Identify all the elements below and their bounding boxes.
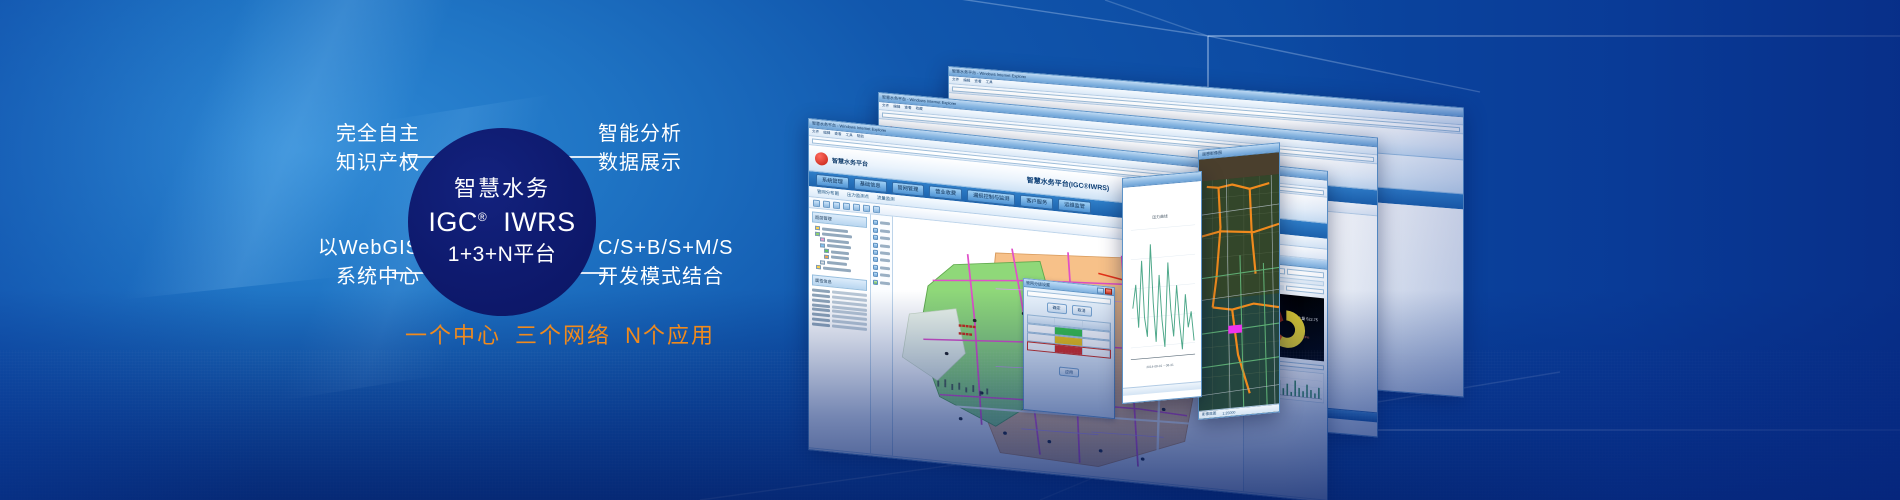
feature-top-left: 完全自主 知识产权	[300, 120, 420, 178]
hub-circle: 智慧水务 IGC® IWRS 1+3+N平台	[408, 128, 596, 316]
dialog-apply-button[interactable]: 应用	[1059, 366, 1079, 377]
feature-bottom-left: 以WebGIS 系统中心	[280, 234, 420, 292]
tree-node-label	[831, 256, 849, 261]
registered-mark-icon: ®	[478, 210, 487, 224]
zoom-out-icon[interactable]	[843, 202, 850, 210]
feature-line2: 系统中心	[280, 263, 420, 292]
tool-zoom-in[interactable]	[873, 235, 890, 242]
layer-swatch	[820, 260, 825, 265]
feature-line1: 智能分析	[598, 123, 682, 145]
stat-field-value[interactable]	[1286, 286, 1325, 295]
pressure-line-chart: 压力曲线 2014-08-01 ~ 08-31	[1127, 185, 1197, 383]
tool-label	[880, 251, 890, 255]
tool-pan[interactable]	[873, 227, 890, 234]
dialog-body: 确定 取消	[1024, 287, 1114, 386]
identify-icon[interactable]	[853, 203, 860, 211]
sub-tab-pipe-map[interactable]: 管网分布图	[817, 189, 839, 197]
feature-line1: 以WebGIS	[318, 237, 420, 259]
banner-root: 智慧水务平台 - Windows Internet Explorer 文件 编辑…	[0, 0, 1900, 500]
feature-line2: 知识产权	[300, 149, 420, 178]
menu-edit[interactable]: 编辑	[963, 78, 970, 84]
status-left: 影像底图	[1202, 411, 1216, 417]
status-coords: 坐标: 118.79, 32.06	[825, 451, 856, 459]
window-satellite-map[interactable]: 遥感影像图	[1198, 142, 1280, 420]
menu-view[interactable]: 查看	[834, 132, 841, 138]
screenshot-stack: 智慧水务平台 - Windows Internet Explorer 文件 编辑…	[770, 0, 1900, 500]
ruler-icon	[873, 250, 878, 256]
pan-icon[interactable]	[823, 200, 830, 208]
tool-label	[880, 281, 890, 285]
magnifier-minus-icon	[873, 242, 878, 248]
tool-label	[880, 266, 890, 270]
tree-node-label	[831, 250, 849, 255]
dialog-cancel-button[interactable]: 取消	[1072, 305, 1092, 317]
chart-panel-body: 压力曲线 2014-08-01 ~ 08-31	[1123, 181, 1201, 388]
hub-brand: IGC® IWRS	[428, 208, 575, 236]
tagline-part-1: 一个中心	[405, 323, 501, 348]
tool-query[interactable]	[873, 264, 890, 271]
selected-parcel-highlight	[1228, 325, 1242, 334]
tool-label	[880, 244, 890, 248]
menu-tools[interactable]: 工具	[846, 133, 853, 139]
search-icon	[873, 264, 878, 270]
tool-label-tool[interactable]	[873, 257, 890, 264]
tool-label	[880, 259, 890, 263]
app-logo-label: 智慧水务平台	[832, 155, 868, 168]
menu-file[interactable]: 文件	[882, 103, 889, 109]
status-scale: 比例尺 1:5000	[862, 454, 885, 461]
tool-measure[interactable]	[873, 250, 890, 257]
arrow-icon	[873, 220, 878, 226]
layer-swatch	[820, 237, 825, 242]
window-chart-panel[interactable]: 压力曲线 2014-08-01 ~ 08-31	[1122, 171, 1202, 404]
menu-edit[interactable]: 编辑	[823, 131, 830, 137]
satellite-imagery	[1199, 152, 1279, 419]
measure-icon[interactable]	[863, 204, 870, 212]
window-title-text: 遥感影像图	[1202, 150, 1222, 158]
map-tool-column[interactable]	[871, 214, 893, 455]
zoom-in-icon[interactable]	[833, 201, 840, 209]
dialog-window-controls[interactable]	[1097, 287, 1112, 295]
menu-file[interactable]: 文件	[952, 77, 959, 83]
tree-node-label	[827, 261, 847, 266]
filter-select-2[interactable]	[1287, 269, 1325, 279]
tool-label	[880, 236, 890, 240]
feature-line1: 完全自主	[336, 123, 420, 145]
sub-tab-pressure[interactable]: 压力监测点	[847, 192, 869, 200]
feature-top-right: 智能分析 数据展示	[598, 120, 682, 178]
donut-pct-label: 24%	[1303, 335, 1310, 340]
hero-content: 智慧水务 IGC® IWRS 1+3+N平台 完全自主 知识产权 以WebGIS…	[0, 0, 820, 500]
hub-subtitle: 1+3+N平台	[448, 242, 557, 267]
menu-favorites[interactable]: 收藏	[916, 106, 923, 112]
dialog-ok-button[interactable]: 确定	[1047, 302, 1067, 314]
tool-label	[880, 273, 890, 277]
tag-icon	[873, 257, 878, 263]
feature-line1: C/S+B/S+M/S	[598, 237, 734, 259]
feature-bottom-right: C/S+B/S+M/S 开发模式结合	[598, 234, 734, 292]
tool-export[interactable]	[873, 279, 890, 286]
menu-help[interactable]: 帮助	[857, 134, 864, 140]
hub-brand-iwrs: IWRS	[503, 207, 576, 237]
menu-view[interactable]: 查看	[974, 79, 981, 85]
tool-stats[interactable]	[873, 272, 890, 279]
layer-swatch	[820, 243, 825, 248]
satellite-map-canvas[interactable]	[1199, 152, 1279, 419]
minimize-icon	[1097, 287, 1104, 294]
export-icon	[873, 279, 878, 285]
close-icon	[1105, 288, 1112, 295]
tool-zoom-out[interactable]	[873, 242, 890, 249]
tagline-part-3: N个应用	[625, 323, 715, 348]
feature-line2: 开发模式结合	[598, 263, 734, 292]
feature-line2: 数据展示	[598, 149, 682, 178]
sub-tab-flow[interactable]: 流量监测	[877, 195, 895, 203]
print-icon[interactable]	[873, 205, 880, 213]
hand-icon	[873, 227, 878, 233]
tagline: 一个中心三个网络N个应用	[300, 318, 820, 350]
menu-view[interactable]: 查看	[904, 105, 911, 111]
tool-select[interactable]	[873, 220, 890, 227]
status-right: 1:25000	[1222, 410, 1235, 415]
menu-edit[interactable]: 编辑	[893, 104, 900, 110]
magnifier-plus-icon	[873, 235, 878, 241]
tree-node-label	[823, 266, 851, 272]
tagline-part-2: 三个网络	[515, 323, 611, 348]
hub-brand-igc: IGC	[428, 207, 478, 237]
tool-label	[880, 229, 890, 233]
menu-tools[interactable]: 工具	[986, 80, 993, 86]
chart-icon	[873, 272, 878, 278]
hub-title-cn: 智慧水务	[454, 177, 550, 201]
tool-label	[880, 222, 890, 226]
legend-swatch-zone2	[824, 255, 829, 260]
grade-color-swatch-3	[1055, 345, 1082, 355]
grading-dialog[interactable]: 管网分级设置 确定 取消	[1023, 278, 1115, 419]
legend-swatch-zone1	[824, 249, 829, 254]
